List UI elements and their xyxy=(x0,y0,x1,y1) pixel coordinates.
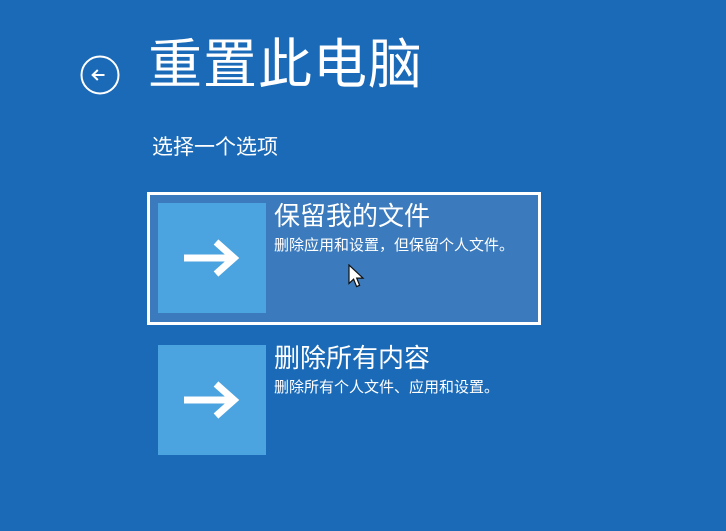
option-text: 删除所有内容 删除所有个人文件、应用和设置。 xyxy=(274,342,532,398)
arrow-right-icon xyxy=(180,378,244,422)
reset-pc-screen: 重置此电脑 选择一个选项 保留我的文件 删除应用和设置，但保留个人文件。 xyxy=(0,0,726,531)
option-keep-my-files[interactable]: 保留我的文件 删除应用和设置，但保留个人文件。 xyxy=(147,192,541,325)
option-title: 删除所有内容 xyxy=(274,342,532,376)
option-description: 删除所有个人文件、应用和设置。 xyxy=(274,377,532,398)
option-description: 删除应用和设置，但保留个人文件。 xyxy=(274,235,532,256)
option-icon-tile xyxy=(158,345,266,455)
arrow-right-icon xyxy=(180,236,244,280)
option-title: 保留我的文件 xyxy=(274,200,532,234)
option-list: 保留我的文件 删除应用和设置，但保留个人文件。 删除所有内容 删除所有个人文件、… xyxy=(0,0,726,531)
option-text: 保留我的文件 删除应用和设置，但保留个人文件。 xyxy=(274,200,532,256)
option-icon-tile xyxy=(158,203,266,313)
option-remove-everything[interactable]: 删除所有内容 删除所有个人文件、应用和设置。 xyxy=(147,334,541,467)
